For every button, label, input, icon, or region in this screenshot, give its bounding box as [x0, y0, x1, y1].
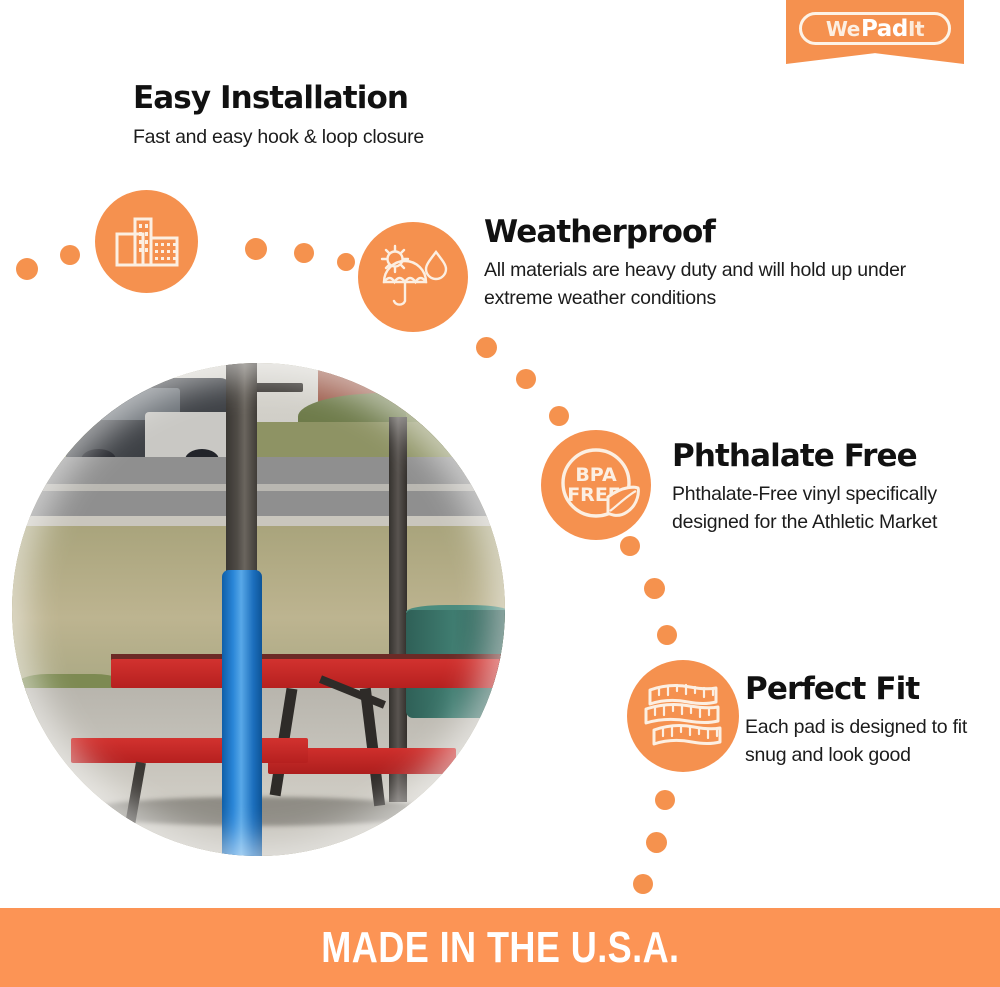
feature-title-perfect-fit: Perfect Fit — [745, 671, 919, 707]
feature-description-easy-installation: Fast and easy hook & loop closure — [133, 123, 553, 151]
photo-pole — [226, 363, 257, 580]
made-in-usa-text: MADE IN THE U.S.A. — [321, 923, 679, 973]
building-icon-badge[interactable] — [95, 190, 198, 293]
feature-title-easy-installation: Easy Installation — [133, 80, 408, 116]
bpa-free-leaf-icon-badge[interactable]: BPA FREE — [541, 430, 651, 540]
brand-logo[interactable]: We Pad It — [786, 0, 964, 64]
feature-description-phthalate-free: Phthalate-Free vinyl specifically design… — [672, 480, 942, 536]
infographic-canvas: We Pad It Easy Installation Fast and eas… — [0, 0, 1000, 987]
trail-dot — [16, 258, 38, 280]
photo-road-line — [12, 484, 505, 491]
trail-dot — [60, 245, 80, 265]
trail-dot — [657, 625, 677, 645]
photo-picnic-table-top — [111, 659, 505, 689]
feature-title-phthalate-free: Phthalate Free — [672, 438, 917, 474]
trail-dot — [646, 832, 667, 853]
feature-title-weatherproof: Weatherproof — [484, 214, 715, 250]
feature-description-weatherproof: All materials are heavy duty and will ho… — [484, 256, 914, 312]
brand-logo-pad: Pad — [861, 16, 908, 42]
photo-secondary-pole — [389, 417, 407, 802]
made-in-usa-banner: MADE IN THE U.S.A. — [0, 908, 1000, 987]
trail-dot — [516, 369, 536, 389]
trail-dot — [476, 337, 497, 358]
umbrella-sun-raindrop-icon — [376, 244, 450, 310]
brand-logo-frame: We Pad It — [799, 12, 951, 45]
trail-dot — [655, 790, 675, 810]
trail-dot — [294, 243, 314, 263]
brand-logo-it: It — [908, 17, 924, 41]
trail-dot — [620, 536, 640, 556]
umbrella-sun-raindrop-icon-badge[interactable] — [358, 222, 468, 332]
trail-dot — [337, 253, 355, 271]
bpa-icon-line1: BPA — [575, 464, 617, 486]
photo-blue-pole-pad — [222, 570, 262, 856]
product-photo — [12, 363, 505, 856]
trail-dot — [245, 238, 267, 260]
bpa-free-leaf-icon: BPA FREE — [550, 439, 642, 531]
measuring-tape-icon-badge[interactable] — [627, 660, 739, 772]
brand-logo-we: We — [826, 17, 860, 41]
feature-description-perfect-fit: Each pad is designed to fit snug and loo… — [745, 713, 980, 769]
photo-bench-left — [71, 738, 308, 764]
measuring-tape-icon — [640, 676, 726, 756]
building-icon — [115, 215, 179, 269]
trail-dot — [644, 578, 665, 599]
trail-dot — [549, 406, 569, 426]
trail-dot — [633, 874, 653, 894]
